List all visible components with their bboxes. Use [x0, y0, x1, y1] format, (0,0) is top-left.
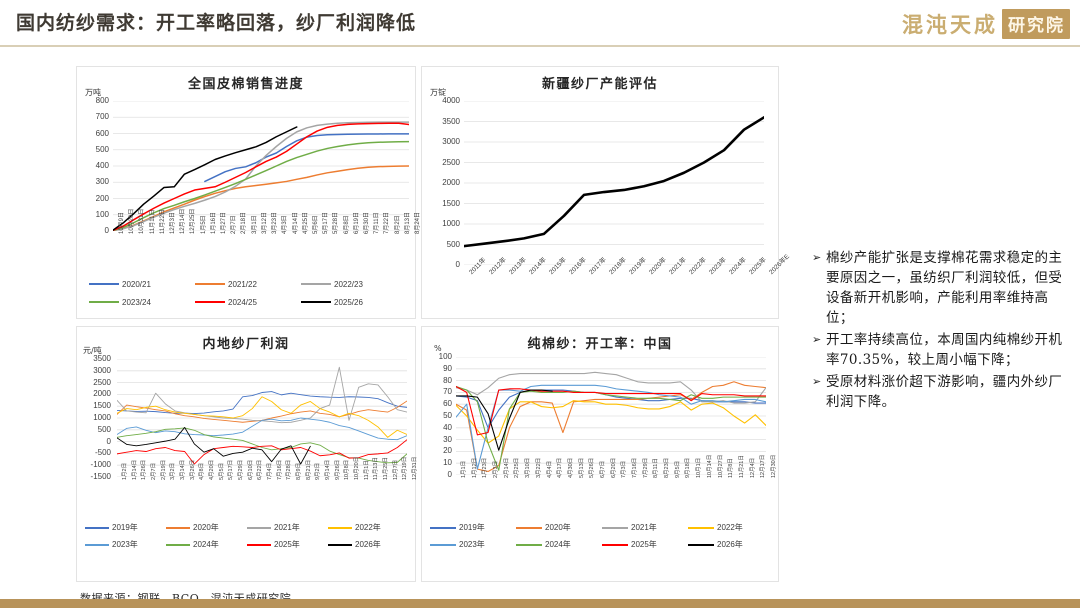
- commentary-text: 开工率持续高位，本周国内纯棉纱开机率70.35%，较上周小幅下降；: [826, 330, 1070, 370]
- x-tick-label: 6月30日: [361, 212, 370, 234]
- y-tick-label: 500: [424, 241, 460, 249]
- y-tick-label: 100: [422, 353, 452, 361]
- chart-inland-mill-profit: 内地纱厂利润 元/吨 3500300025002000150010005000-…: [76, 326, 416, 582]
- y-tick-label: 0: [422, 471, 452, 479]
- y-tick-label: 3500: [424, 118, 460, 126]
- legend-item[interactable]: 2024/25: [195, 293, 301, 311]
- y-tick-label: 800: [79, 97, 109, 105]
- series-line: [117, 397, 407, 438]
- y-tick-label: 200: [79, 195, 109, 203]
- x-tick-label: 5月28日: [330, 212, 339, 234]
- x-tick-label: 3月14日: [178, 460, 186, 480]
- y-tick-label: 20: [422, 447, 452, 455]
- x-tick-label: 6月22日: [255, 460, 263, 480]
- y-tick-label: 30: [422, 436, 452, 444]
- x-tick-label: 8月13日: [402, 212, 411, 234]
- legend-label: 2023/24: [122, 298, 151, 307]
- legend-swatch: [166, 544, 190, 546]
- x-tick-label: 6月20日: [609, 458, 617, 478]
- y-tick-label: 500: [77, 426, 111, 434]
- y-tick-label: 3000: [77, 367, 111, 375]
- x-tick-label: 12月17日: [758, 455, 766, 478]
- legend-item[interactable]: 2024年: [166, 536, 247, 553]
- y-tick-label: -1000: [77, 461, 111, 469]
- x-tick-label: 1月1日: [459, 461, 467, 478]
- legend-swatch: [430, 527, 456, 529]
- legend-item[interactable]: 2021/22: [195, 275, 301, 293]
- y-tick-label: 1000: [424, 220, 460, 228]
- x-tick-label: 8月23日: [662, 458, 670, 478]
- x-tick-label: 11月22日: [157, 209, 166, 234]
- x-tick-label: 6月19日: [351, 212, 360, 234]
- x-axis-ticks: 2011年2012年2013年2014年2015年2016年2017年2018年…: [464, 267, 764, 315]
- legend-swatch: [688, 527, 714, 529]
- legend-swatch: [247, 544, 271, 546]
- x-tick-label: 8月21日: [304, 460, 312, 480]
- legend-item[interactable]: 2019年: [85, 519, 166, 536]
- legend-item[interactable]: 2023年: [85, 536, 166, 553]
- y-tick-label: 0: [77, 438, 111, 446]
- x-tick-label: 2月25日: [512, 458, 520, 478]
- legend-item[interactable]: 2023年: [430, 536, 516, 553]
- bullet-arrow-icon: ➢: [812, 372, 826, 412]
- x-tick-label: 2月14日: [502, 458, 510, 478]
- bullet-arrow-icon: ➢: [812, 248, 826, 328]
- y-tick-label: 100: [79, 211, 109, 219]
- y-tick-label: 2000: [424, 179, 460, 187]
- y-tick-label: 80: [422, 377, 452, 385]
- y-tick-label: 1000: [77, 414, 111, 422]
- commentary-text: 棉纱产能扩张是支撑棉花需求稳定的主要原因之一，虽纺织厂利润较低，但受设备新开机影…: [826, 248, 1070, 328]
- x-tick-label: 12月30日: [769, 455, 777, 478]
- x-tick-label: 12月25日: [187, 209, 196, 234]
- x-tick-label: 3月1日: [249, 215, 258, 234]
- x-tick-label: 10月9日: [116, 212, 125, 234]
- legend-label: 2026年: [355, 539, 381, 550]
- legend-label: 2024年: [545, 539, 571, 550]
- legend-swatch: [301, 301, 331, 303]
- y-tick-label: 90: [422, 365, 452, 373]
- commentary-item: ➢开工率持续高位，本周国内纯棉纱开机率70.35%，较上周小幅下降；: [812, 330, 1070, 370]
- x-tick-label: 7月16日: [630, 458, 638, 478]
- legend-label: 2020年: [193, 522, 219, 533]
- legend-item[interactable]: 2022年: [688, 519, 774, 536]
- x-tick-label: 2月3日: [491, 461, 499, 478]
- x-tick-label: 12月14日: [177, 209, 186, 234]
- legend-label: 2024年: [193, 539, 219, 550]
- y-tick-label: 60: [422, 400, 452, 408]
- x-tick-label: 11月1日: [362, 460, 370, 480]
- bullet-arrow-icon: ➢: [812, 330, 826, 370]
- x-tick-label: 4月17日: [555, 458, 563, 478]
- x-tick-label: 6月10日: [246, 460, 254, 480]
- x-tick-label: 10月31日: [136, 209, 145, 234]
- legend-swatch: [247, 527, 271, 529]
- y-tick-label: 3500: [77, 355, 111, 363]
- x-tick-label: 3月26日: [188, 460, 196, 480]
- x-tick-label: 4月4日: [545, 461, 553, 478]
- legend-swatch: [516, 544, 542, 546]
- x-tick-label: 3月12日: [259, 212, 268, 234]
- x-tick-label: 4月3日: [279, 215, 288, 234]
- x-tick-label: 1月14日: [130, 460, 138, 480]
- x-tick-label: 1月2日: [120, 463, 128, 480]
- series-line: [117, 401, 407, 422]
- x-tick-label: 9月14日: [323, 460, 331, 480]
- legend-swatch: [602, 544, 628, 546]
- legend-label: 2021/22: [228, 280, 257, 289]
- x-tick-label: 1月23日: [480, 458, 488, 478]
- legend-label: 2022年: [717, 522, 743, 533]
- commentary-item: ➢受原材料涨价超下游影响，疆内外纱厂利润下降。: [812, 372, 1070, 412]
- y-tick-label: 10: [422, 459, 452, 467]
- legend-item[interactable]: 2020/21: [89, 275, 195, 293]
- chart-title: 内地纱厂利润: [77, 333, 415, 352]
- legend-swatch: [301, 283, 331, 285]
- x-tick-label: 8月24日: [412, 212, 421, 234]
- slide-header: 国内纺纱需求：开工率略回落，纱厂利润降低 混沌天成 研究院: [0, 0, 1080, 46]
- x-tick-label: 2月7日: [228, 215, 237, 234]
- x-tick-label: 8月9日: [294, 463, 302, 480]
- plot-svg: [464, 101, 764, 265]
- legend-swatch: [688, 544, 714, 546]
- x-tick-label: 12月19日: [400, 457, 408, 480]
- legend-swatch: [328, 544, 352, 546]
- commentary-item: ➢棉纱产能扩张是支撑棉花需求稳定的主要原因之一，虽纺织厂利润较低，但受设备新开机…: [812, 248, 1070, 328]
- x-tick-label: 11月11日: [147, 210, 156, 234]
- x-tick-label: 7月22日: [381, 212, 390, 234]
- legend-item[interactable]: 2021年: [247, 519, 328, 536]
- header-divider: [0, 45, 1080, 47]
- chart-title: 新疆纱厂产能评估: [422, 73, 778, 92]
- legend-item[interactable]: 2023/24: [89, 293, 195, 311]
- legend-item[interactable]: 2026年: [688, 536, 774, 553]
- legend-label: 2021年: [274, 522, 300, 533]
- x-tick-label: 5月17日: [226, 460, 234, 480]
- x-tick-label: 2026年E: [766, 251, 791, 276]
- x-tick-label: 3月23日: [269, 212, 278, 234]
- series-line: [456, 401, 766, 443]
- x-tick-label: 10月27日: [716, 455, 724, 478]
- page-title: 国内纺纱需求：开工率略回落，纱厂利润降低: [16, 8, 416, 35]
- y-tick-label: 2500: [424, 159, 460, 167]
- x-tick-label: 11月21日: [737, 455, 745, 478]
- x-tick-label: 10月14日: [705, 455, 713, 478]
- x-tick-label: 1月5日: [198, 215, 207, 234]
- commentary-list: ➢棉纱产能扩张是支撑棉花需求稳定的主要原因之一，虽纺织厂利润较低，但受设备新开机…: [812, 248, 1070, 414]
- x-tick-label: 7月16日: [275, 460, 283, 480]
- legend-item[interactable]: 2022/23: [301, 275, 407, 293]
- x-tick-label: 1月12日: [470, 458, 478, 478]
- chart-title: 全国皮棉销售进度: [77, 73, 415, 92]
- slide-root: 国内纺纱需求：开工率略回落，纱厂利润降低 混沌天成 研究院 全国皮棉销售进度 万…: [0, 0, 1080, 608]
- x-tick-label: 2月18日: [238, 212, 247, 234]
- x-tick-label: 6月7日: [598, 461, 606, 478]
- legend-label: 2024/25: [228, 298, 257, 307]
- legend-item[interactable]: 2020年: [516, 519, 602, 536]
- legend-swatch: [195, 283, 225, 285]
- x-tick-label: 12月7日: [391, 460, 399, 480]
- y-tick-label: 700: [79, 113, 109, 121]
- x-tick-label: 12月3日: [167, 212, 176, 234]
- legend-swatch: [195, 301, 225, 303]
- legend-label: 2026年: [717, 539, 743, 550]
- y-tick-label: 40: [422, 424, 452, 432]
- x-tick-label: 10月1日: [694, 458, 702, 478]
- y-tick-label: 50: [422, 412, 452, 420]
- chart-cotton-yarn-operating-rate: 纯棉纱：开工率：中国 % 0102030405060708090100 1月1日…: [421, 326, 779, 582]
- brand-logo: 混沌天成 研究院: [902, 8, 1070, 40]
- plot-area: [464, 101, 764, 265]
- x-tick-label: 7月4日: [265, 463, 273, 480]
- x-axis-ticks: 1月1日1月12日1月23日2月3日2月14日2月25日3月10日3月22日4月…: [456, 477, 766, 521]
- x-tick-label: 5月5日: [217, 463, 225, 480]
- y-tick-label: -500: [77, 449, 111, 457]
- x-tick-label: 4月20日: [207, 460, 215, 480]
- legend-swatch: [602, 527, 628, 529]
- legend-item[interactable]: 2020年: [166, 519, 247, 536]
- legend-label: 2020年: [545, 522, 571, 533]
- legend-swatch: [89, 301, 119, 303]
- x-tick-label: 1月27日: [218, 212, 227, 234]
- chart-cotton-sales-progress: 全国皮棉销售进度 万吨 0100200300400500600700800 10…: [76, 66, 416, 319]
- legend-item[interactable]: 2025年: [602, 536, 688, 553]
- y-tick-label: 300: [79, 178, 109, 186]
- legend-swatch: [85, 527, 109, 529]
- x-tick-label: 2月19日: [159, 460, 167, 480]
- x-axis-ticks: 10月9日10月20日10月31日11月11日11月22日12月3日12月14日…: [113, 233, 409, 277]
- x-tick-label: 10月20日: [126, 209, 135, 234]
- chart-legend: 2019年2020年2021年2022年2023年2024年2025年2026年: [85, 519, 411, 553]
- legend-label: 2023年: [112, 539, 138, 550]
- legend-item[interactable]: 2021年: [602, 519, 688, 536]
- x-tick-label: 8月11日: [651, 458, 659, 478]
- y-tick-label: 0: [79, 227, 109, 235]
- x-tick-label: 1月16日: [208, 212, 217, 234]
- legend-label: 2021年: [631, 522, 657, 533]
- x-tick-label: 12月31日: [410, 457, 418, 480]
- x-tick-label: 7月3日: [619, 461, 627, 478]
- legend-swatch: [89, 283, 119, 285]
- logo-badge: 研究院: [1002, 9, 1070, 39]
- legend-label: 2025年: [631, 539, 657, 550]
- x-tick-label: 3月10日: [523, 458, 531, 478]
- x-tick-label: 3月22日: [534, 458, 542, 478]
- x-tick-label: 4月30日: [566, 458, 574, 478]
- legend-item[interactable]: 2026年: [328, 536, 409, 553]
- legend-label: 2025/26: [334, 298, 363, 307]
- y-tick-label: -1500: [77, 473, 111, 481]
- x-tick-label: 3月2日: [168, 463, 176, 480]
- legend-label: 2019年: [459, 522, 485, 533]
- x-tick-label: 1月26日: [139, 460, 147, 480]
- x-tick-label: 5月29日: [236, 460, 244, 480]
- legend-item[interactable]: 2019年: [430, 519, 516, 536]
- x-tick-label: 5月26日: [587, 458, 595, 478]
- chart-legend: 2019年2020年2021年2022年2023年2024年2025年2026年: [430, 519, 774, 553]
- y-tick-label: 3000: [424, 138, 460, 146]
- x-tick-label: 2月7日: [149, 463, 157, 480]
- x-tick-label: 9月26日: [333, 460, 341, 480]
- y-tick-label: 70: [422, 388, 452, 396]
- legend-item[interactable]: 2025年: [247, 536, 328, 553]
- y-tick-label: 4000: [424, 97, 460, 105]
- x-tick-label: 8月2日: [392, 215, 401, 234]
- x-tick-label: 4月25日: [300, 212, 309, 234]
- legend-label: 2020/21: [122, 280, 151, 289]
- commentary-text: 受原材料涨价超下游影响，疆内外纱厂利润下降。: [826, 372, 1070, 412]
- legend-item[interactable]: 2024年: [516, 536, 602, 553]
- series-line: [464, 117, 764, 246]
- x-tick-label: 12月4日: [748, 458, 756, 478]
- x-tick-label: 7月11日: [371, 212, 380, 234]
- y-tick-label: 500: [79, 146, 109, 154]
- x-tick-label: 9月18日: [683, 458, 691, 478]
- x-tick-label: 7月28日: [284, 460, 292, 480]
- footer-bar: [0, 599, 1080, 608]
- y-tick-label: 600: [79, 130, 109, 138]
- x-tick-label: 4月8日: [197, 463, 205, 480]
- x-tick-label: 6月8日: [341, 215, 350, 234]
- legend-swatch: [516, 527, 542, 529]
- legend-label: 2025年: [274, 539, 300, 550]
- series-line: [205, 134, 409, 182]
- logo-wordmark: 混沌天成: [902, 9, 998, 39]
- legend-label: 2022/23: [334, 280, 363, 289]
- legend-item[interactable]: 2022年: [328, 519, 409, 536]
- x-tick-label: 11月13日: [371, 457, 379, 480]
- x-tick-label: 11月25日: [381, 457, 389, 480]
- series-line: [117, 367, 407, 422]
- x-tick-label: 7月29日: [641, 458, 649, 478]
- legend-label: 2022年: [355, 522, 381, 533]
- y-tick-label: 1500: [424, 200, 460, 208]
- x-tick-label: 9月5日: [673, 461, 681, 478]
- x-tick-label: 5月13日: [577, 458, 585, 478]
- legend-label: 2019年: [112, 522, 138, 533]
- y-tick-label: 0: [424, 261, 460, 269]
- chart-title: 纯棉纱：开工率：中国: [422, 333, 778, 352]
- x-tick-label: 5月6日: [310, 215, 319, 234]
- chart-legend: 2020/212021/222022/232023/242024/252025/…: [89, 275, 407, 311]
- legend-item[interactable]: 2025/26: [301, 293, 407, 311]
- legend-swatch: [430, 544, 456, 546]
- x-tick-label: 11月8日: [726, 458, 734, 478]
- legend-swatch: [166, 527, 190, 529]
- y-tick-label: 400: [79, 162, 109, 170]
- x-tick-label: 9月2日: [313, 463, 321, 480]
- x-axis-ticks: 1月2日1月14日1月26日2月7日2月19日3月2日3月14日3月26日4月8…: [117, 479, 407, 523]
- x-tick-label: 10月8日: [342, 460, 350, 480]
- x-tick-label: 10月20日: [352, 457, 360, 480]
- x-tick-label: 4月14日: [290, 212, 299, 234]
- x-tick-label: 5月17日: [320, 212, 329, 234]
- y-tick-label: 2500: [77, 379, 111, 387]
- legend-label: 2023年: [459, 539, 485, 550]
- legend-swatch: [328, 527, 352, 529]
- y-tick-label: 1500: [77, 402, 111, 410]
- y-tick-label: 2000: [77, 390, 111, 398]
- chart-xinjiang-spinning-capacity: 新疆纱厂产能评估 万锭 0500100015002000250030003500…: [421, 66, 779, 319]
- legend-swatch: [85, 544, 109, 546]
